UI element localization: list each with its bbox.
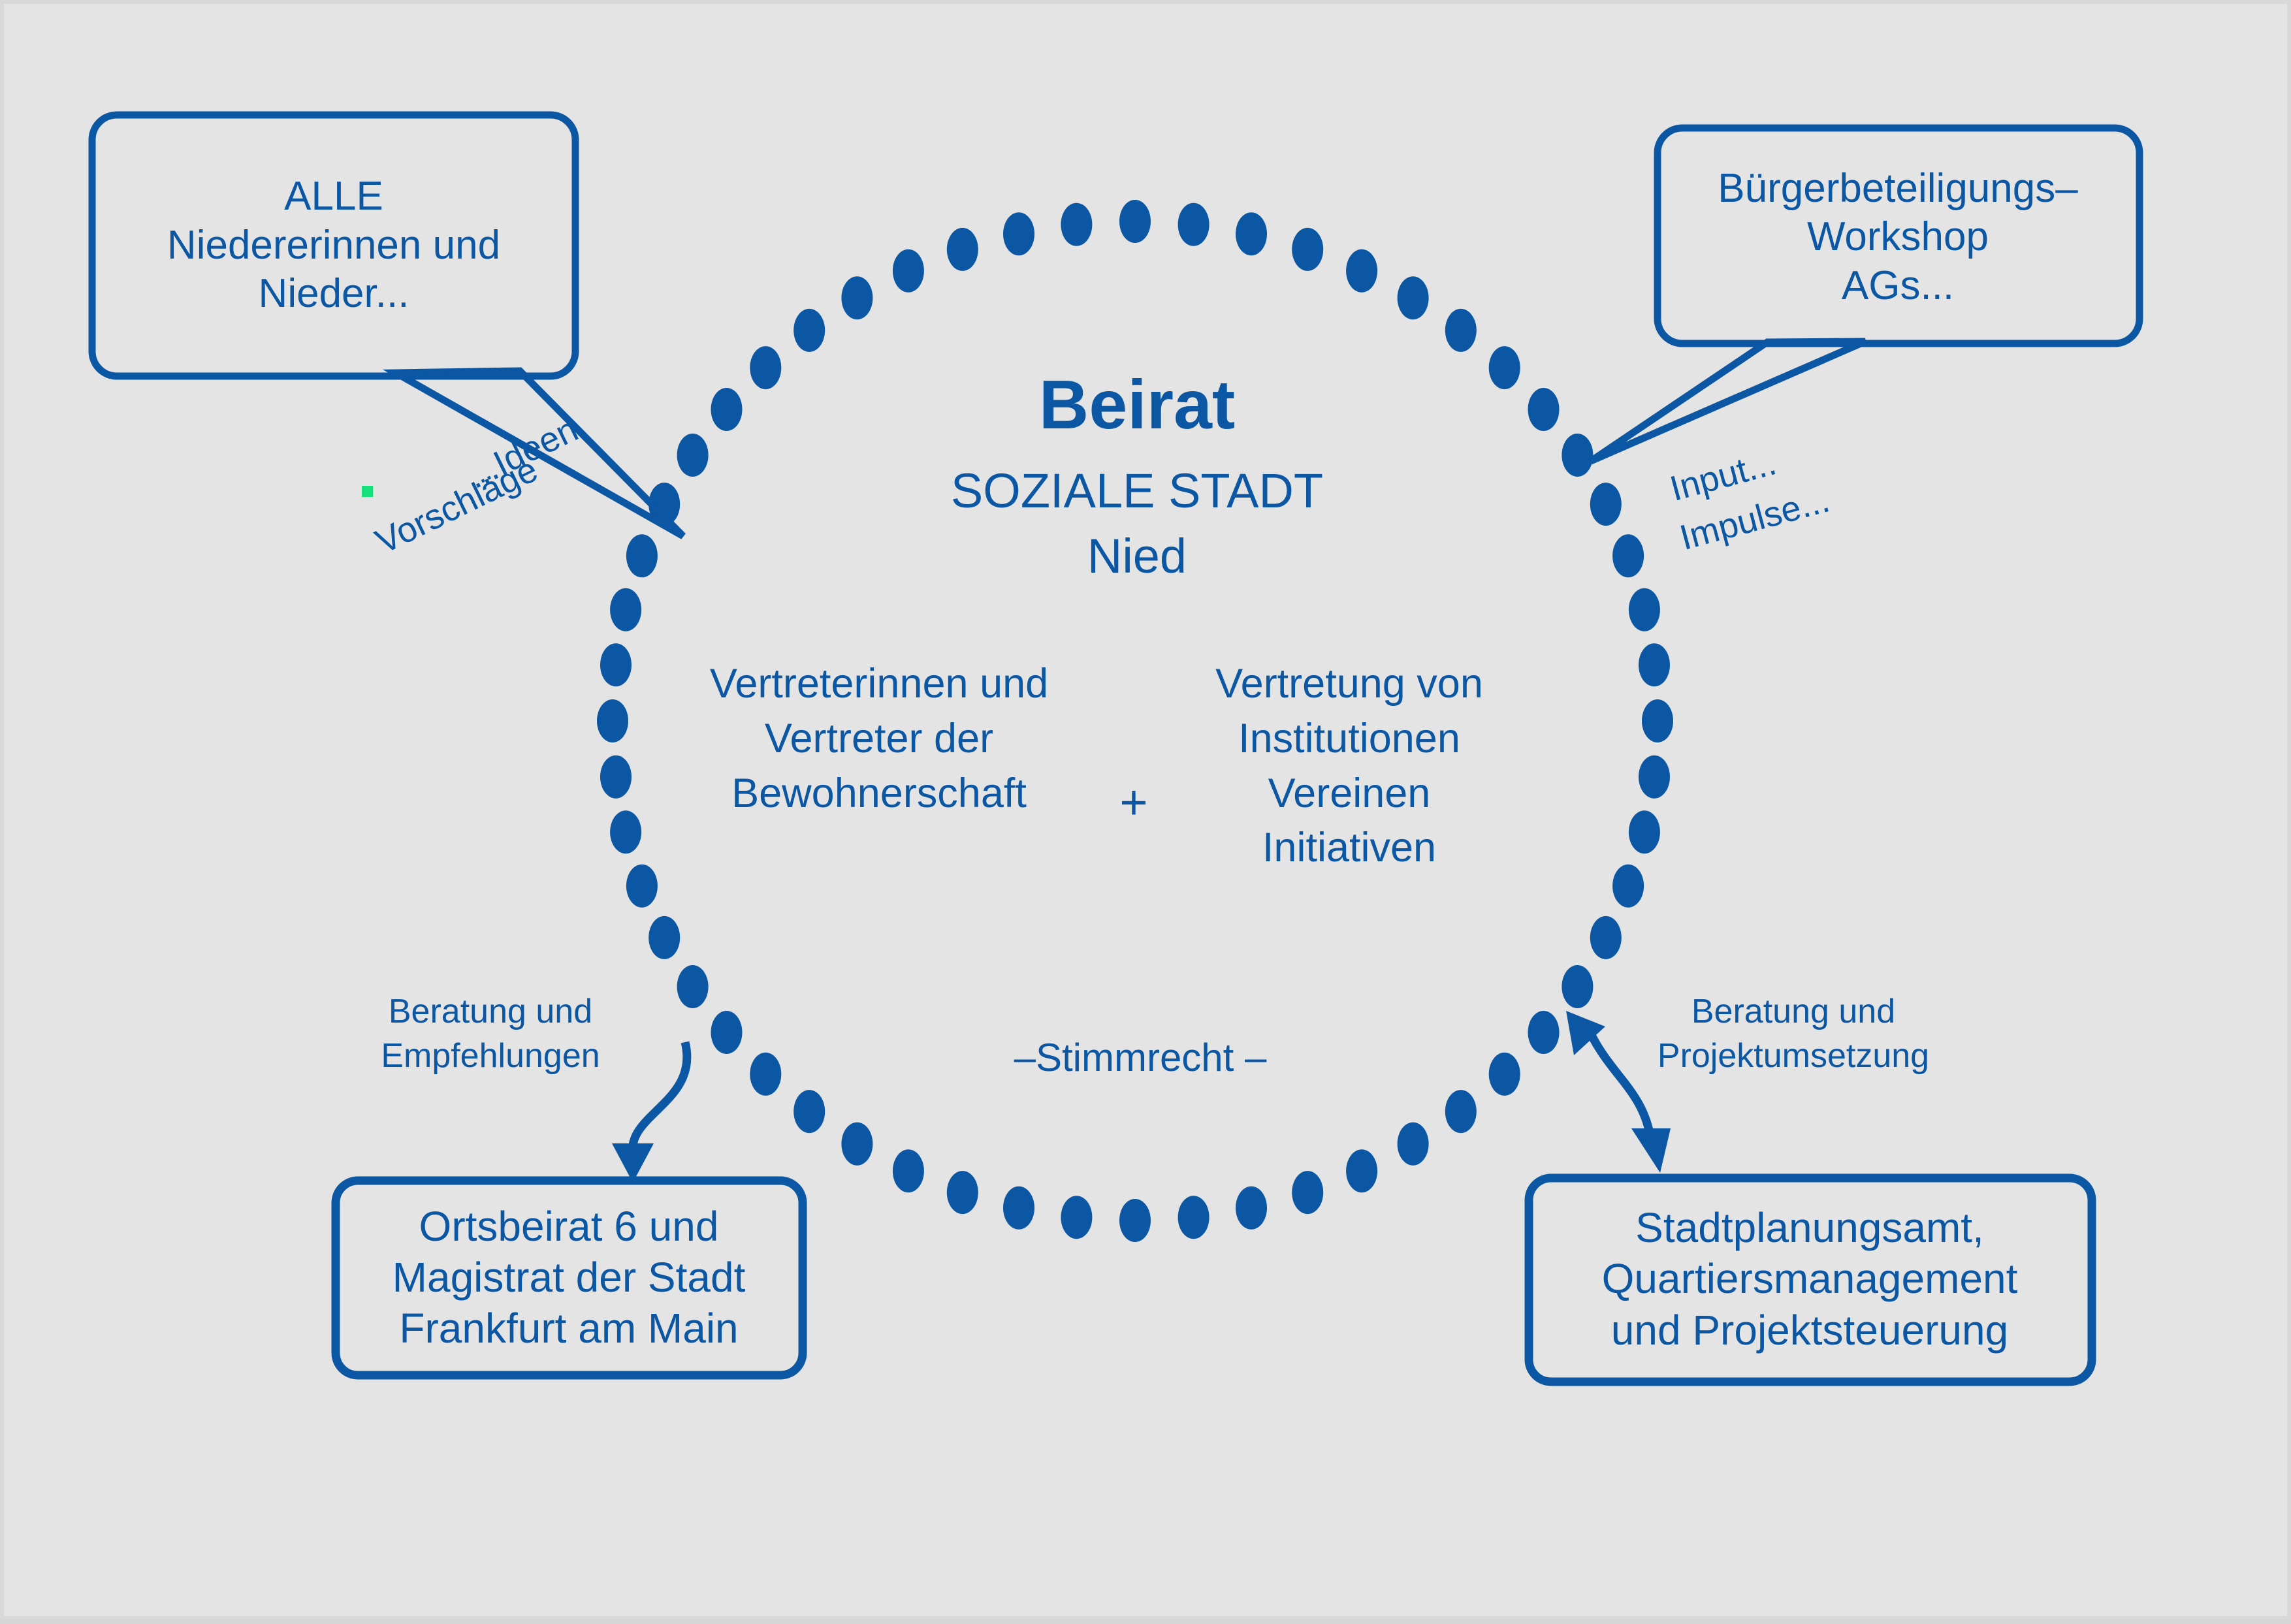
circle-subtitle-line2: Nied xyxy=(807,530,1467,584)
diagram-canvas: ALLE Niedererinnen und Nieder... Bürgerb… xyxy=(0,0,2291,1620)
ring-dot xyxy=(1178,1196,1210,1239)
ring-dot xyxy=(841,1122,873,1166)
ring-dot xyxy=(893,249,924,293)
ring-dot xyxy=(1639,756,1670,799)
ring-dot xyxy=(1562,434,1593,477)
ring-dot xyxy=(1346,1149,1377,1192)
ring-dot xyxy=(610,588,641,631)
ring-dot xyxy=(893,1149,924,1192)
ring-dot xyxy=(649,916,680,959)
ring-dot xyxy=(1003,212,1034,255)
ring-dot xyxy=(1398,1122,1429,1166)
ring-dot xyxy=(750,346,781,389)
ring-dot xyxy=(841,276,873,319)
ring-dot xyxy=(1629,810,1660,853)
ring-dot xyxy=(677,434,709,477)
ring-dot xyxy=(1612,865,1644,908)
circle-subtitle-line1: SOZIALE STADT xyxy=(807,464,1467,518)
ring-dot xyxy=(1629,588,1660,631)
ring-dot xyxy=(1003,1186,1034,1230)
ring-dot xyxy=(600,756,632,799)
ring-dot xyxy=(1398,276,1429,319)
ring-dot xyxy=(1642,699,1673,742)
ring-dot xyxy=(711,388,743,431)
ring-dot xyxy=(1612,534,1644,577)
ring-dot xyxy=(1346,249,1377,293)
ring-dot xyxy=(947,1171,978,1214)
box-right-line3: und Projektsteuerung xyxy=(1611,1305,2008,1356)
ring-dot xyxy=(1562,965,1593,1008)
bubble-right-line2: Workshop xyxy=(1807,213,1989,261)
box-ortsbeirat-text: Ortsbeirat 6 und Magistrat der Stadt Fra… xyxy=(340,1183,797,1372)
ring-dot xyxy=(1639,643,1670,686)
ring-dot xyxy=(1445,1090,1477,1133)
box-left-line3: Frankfurt am Main xyxy=(399,1303,738,1354)
ring-dot xyxy=(1489,346,1520,389)
ring-dot xyxy=(597,699,628,742)
ring-dot xyxy=(793,309,825,352)
ring-dot xyxy=(1292,228,1323,271)
ring-dot xyxy=(1178,203,1210,246)
speech-bubble-left-text: ALLE Niedererinnen und Nieder... xyxy=(95,118,572,373)
bubble-left-line2: Niedererinnen und xyxy=(167,221,500,270)
ring-dot xyxy=(1119,1199,1151,1242)
green-marker-dot xyxy=(362,486,373,497)
ring-dot xyxy=(1236,212,1267,255)
ring-dot xyxy=(1061,203,1092,246)
bubble-left-line1: ALLE xyxy=(284,172,383,221)
label-beratung-empfehlungen: Beratung und Empfehlungen xyxy=(350,990,631,1078)
ring-dot xyxy=(1061,1196,1092,1239)
box-right-line1: Stadtplanungsamt, xyxy=(1635,1202,1984,1253)
box-stadtplanungsamt-text: Stadtplanungsamt, Quartiersmanagement un… xyxy=(1532,1179,2087,1378)
ring-dot xyxy=(1590,916,1622,959)
ring-dot xyxy=(626,865,658,908)
bubble-left-line3: Nieder... xyxy=(259,270,409,318)
ring-dot xyxy=(750,1053,781,1096)
ring-dot xyxy=(947,228,978,271)
circle-right-column: Vertretung von Institutionen Vereinen In… xyxy=(1209,657,1490,876)
box-right-line2: Quartiersmanagement xyxy=(1602,1253,2018,1304)
ring-dot xyxy=(1119,200,1151,243)
ring-dot xyxy=(1445,309,1477,352)
label-beratung-projektumsetzung: Beratung und Projektumsetzung xyxy=(1630,990,1957,1078)
ring-dot xyxy=(1528,1011,1560,1054)
bubble-right-line3: AGs... xyxy=(1842,262,1954,310)
box-left-line2: Magistrat der Stadt xyxy=(393,1252,746,1303)
ring-dot xyxy=(1236,1186,1267,1230)
circle-title: Beirat xyxy=(807,366,1467,444)
box-left-line1: Ortsbeirat 6 und xyxy=(419,1201,719,1252)
ring-dot xyxy=(1590,483,1622,526)
plus-operator: + xyxy=(1075,774,1193,830)
circle-left-column: Vertreterinnen und Vertreter der Bewohne… xyxy=(706,657,1052,821)
ring-dot xyxy=(610,810,641,853)
stimmrecht-note: –Stimmrecht – xyxy=(892,1036,1388,1079)
ring-dot xyxy=(677,965,709,1008)
speech-bubble-right-text: Bürgerbeteiligungs– Workshop AGs... xyxy=(1659,131,2136,343)
ring-dot xyxy=(1292,1171,1323,1214)
ring-dot xyxy=(600,643,632,686)
ring-dot xyxy=(711,1011,743,1054)
bubble-right-line1: Bürgerbeteiligungs– xyxy=(1718,165,2078,213)
ring-dot xyxy=(626,534,658,577)
ring-dot xyxy=(793,1090,825,1133)
ring-dot xyxy=(1489,1053,1520,1096)
ring-dot xyxy=(1528,388,1560,431)
